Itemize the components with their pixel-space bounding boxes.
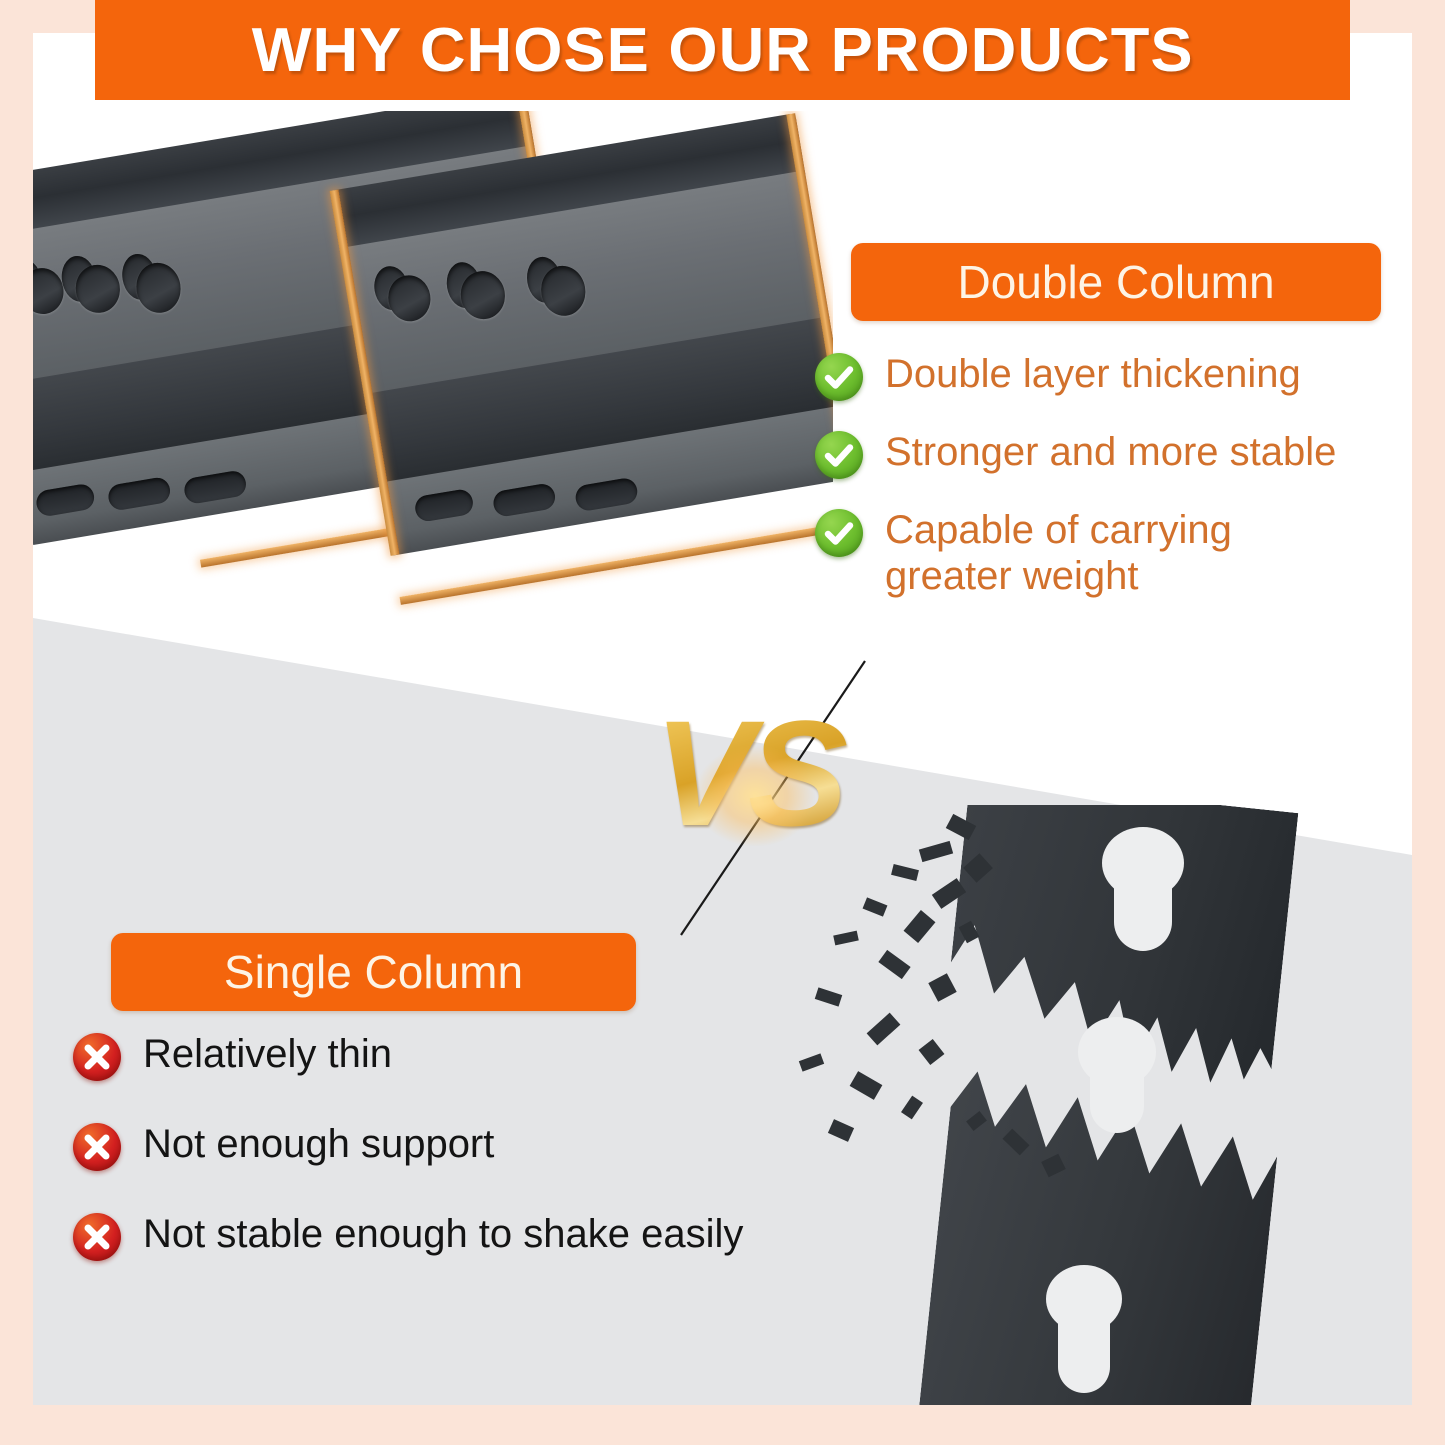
list-item: Not enough support [73,1121,873,1171]
header-banner: WHY CHOSE OUR PRODUCTS [95,0,1350,100]
versus-emblem: VS [633,658,863,888]
list-item-label: Stronger and more stable [885,429,1336,475]
debris-shard [815,987,842,1006]
cross-circle-icon [73,1033,121,1081]
single-column-label-pill: Single Column [111,933,636,1011]
cross-circle-icon [73,1213,121,1261]
debris-shard [878,950,910,979]
debris-shard [901,1096,923,1120]
list-item-label: Double layer thickening [885,351,1301,397]
single-column-label-text: Single Column [224,945,523,999]
content-canvas: VS Double Column Double layer thickening… [33,33,1412,1405]
debris-shard [919,841,953,862]
list-item-label-multiline: Capable of carrying greater weight [885,507,1232,599]
versus-label: VS [633,658,863,888]
double-column-steel-beams-photo [33,111,833,621]
check-circle-icon [815,353,863,401]
list-item: Not stable enough to shake easily [73,1211,873,1261]
keyhole-slot [1102,827,1184,899]
list-item-label: Not stable enough to shake easily [143,1211,743,1257]
debris-shard [919,1039,945,1065]
list-item: Relatively thin [73,1031,873,1081]
check-circle-icon [815,431,863,479]
check-circle-icon [815,509,863,557]
list-item-label: Not enough support [143,1121,494,1167]
double-column-benefits-list: Double layer thickening Stronger and mor… [815,351,1412,627]
list-item: Capable of carrying greater weight [815,507,1412,599]
double-column-label-pill: Double Column [851,243,1381,321]
infographic-page: VS Double Column Double layer thickening… [0,0,1445,1445]
list-item-label-line2: greater weight [885,553,1232,599]
steel-beam-front [332,113,833,605]
keyhole-slot [1046,1265,1122,1333]
keyhole-slot [1078,1017,1156,1087]
double-column-label-text: Double Column [957,255,1274,309]
debris-shard [928,973,956,1001]
list-item: Stronger and more stable [815,429,1412,479]
page-title: WHY CHOSE OUR PRODUCTS [252,15,1194,86]
list-item-label-line1: Capable of carrying [885,507,1232,553]
list-item: Double layer thickening [815,351,1412,401]
single-column-drawbacks-list: Relatively thin Not enough support Not s… [73,1031,873,1301]
cross-circle-icon [73,1123,121,1171]
list-item-label: Relatively thin [143,1031,392,1077]
